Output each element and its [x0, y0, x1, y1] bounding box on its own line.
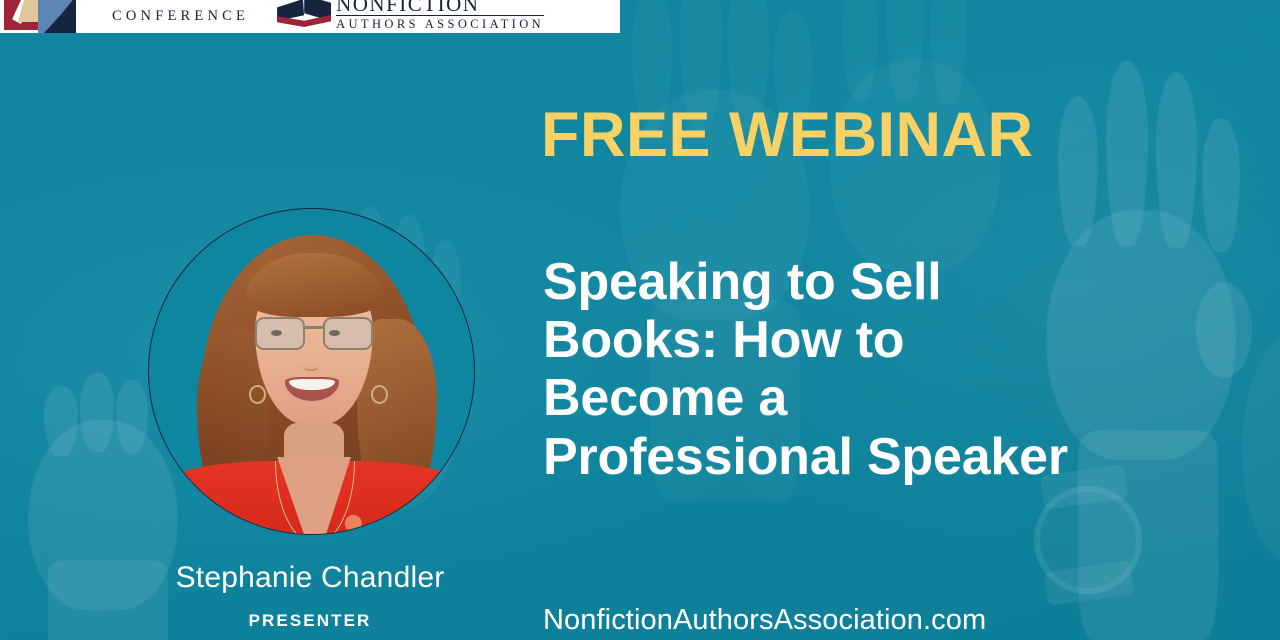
hand-silhouette-finger: [1156, 72, 1197, 248]
earring-icon: [249, 385, 266, 404]
heart-pendant-icon: [303, 531, 322, 535]
presenter-name: Stephanie Chandler: [0, 561, 620, 594]
page-title: Speaking to Sell Books: How to Become a …: [543, 253, 1103, 486]
logo-banner: CONFERENCE NONFICTION AUTHORS ASSOCIATIO…: [0, 0, 620, 33]
earring-icon: [371, 385, 388, 404]
conference-logo-mark-icon: [4, 0, 76, 33]
nonfiction-authors-association-logo: NONFICTION AUTHORS ASSOCIATION: [277, 0, 544, 32]
portrait-illustration: [149, 209, 474, 534]
eyebrow-free-webinar: FREE WEBINAR: [541, 104, 1034, 167]
hand-silhouette-thumb: [1196, 282, 1252, 378]
hand-silhouette-finger: [1202, 118, 1240, 252]
wristwatch-icon: [1034, 486, 1142, 594]
hand-silhouette-finger: [80, 372, 114, 452]
webinar-promo-graphic: CONFERENCE NONFICTION AUTHORS ASSOCIATIO…: [0, 0, 1280, 640]
presenter-headshot-avatar: [148, 208, 475, 535]
hand-silhouette-finger: [116, 380, 148, 454]
eyeglasses-icon: [253, 317, 375, 351]
website-url: NonfictionAuthorsAssociation.com: [543, 604, 986, 637]
open-book-icon: [277, 0, 331, 27]
presenter-role-label: PRESENTER: [0, 611, 620, 631]
association-name-secondary: AUTHORS ASSOCIATION: [336, 16, 544, 32]
hand-silhouette-palm: [1242, 330, 1280, 560]
hand-silhouette-finger: [842, 0, 878, 100]
hand-silhouette-finger: [44, 386, 78, 456]
association-name-primary: NONFICTION: [336, 0, 544, 16]
conference-label: CONFERENCE: [112, 8, 249, 25]
hand-silhouette-finger: [1058, 96, 1098, 246]
hand-silhouette-finger: [1106, 60, 1148, 246]
